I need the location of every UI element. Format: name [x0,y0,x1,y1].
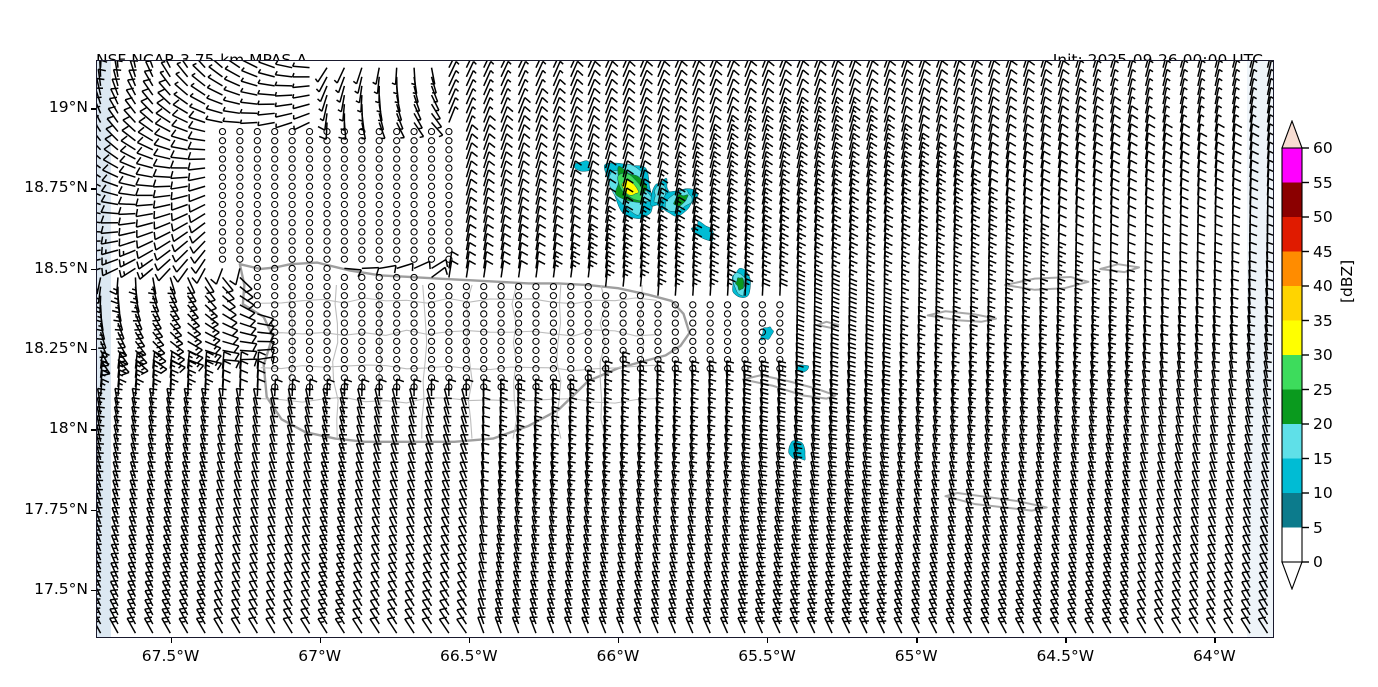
barb-full [249,608,257,609]
barb-full [550,516,558,517]
barb-full [863,452,871,453]
barb-full [232,599,239,600]
wind-barb [318,617,327,633]
municipal-line [261,397,657,403]
wind-barb [370,617,379,633]
barb-full [723,498,731,499]
barb-full [967,462,975,463]
barb-full [864,466,872,467]
barb-full [985,443,993,444]
barb-full [1189,599,1196,600]
wind-barb [162,617,170,633]
barb-half [147,621,151,622]
wind-barb [912,617,920,633]
wind-barb [439,617,448,633]
barb-full [1002,453,1010,454]
barb-full [533,498,541,499]
barb-full [671,498,679,499]
wind-barb [283,617,292,633]
barb-full [497,525,505,526]
barb-full [388,581,396,582]
barb-full [405,590,412,591]
wind-barb-field [97,61,1273,633]
barb-full [742,475,750,476]
barb-full [654,480,661,481]
barb-full [829,484,837,485]
barb-full [654,507,662,508]
barb-full [776,502,784,503]
barb-full [777,457,785,458]
barb-full [388,572,396,573]
barb-full [318,599,325,600]
barb-full [742,511,750,512]
barb-full [672,471,680,472]
barb-full [284,599,291,600]
barb-full [984,453,992,454]
figure-root: NSF NCAR 3.75-km MPAS-A Reflectivity at … [0,0,1378,687]
barb-full [514,553,522,554]
barb-full [618,535,626,536]
wind-barb [1206,617,1215,633]
barb-full [423,572,430,573]
barb-full [637,498,645,499]
wind-barb [301,617,310,633]
barb-full [1224,590,1232,591]
barb-full [532,535,540,536]
barb-full [846,443,854,444]
barb-full [636,526,644,527]
wind-barb [669,617,677,633]
barb-full [828,471,836,472]
barb-full [671,517,679,518]
barb-full [602,489,610,490]
barb-full [301,590,308,591]
barb-full [759,511,767,512]
barb-full [810,480,818,481]
barb-full [688,517,696,518]
barb-full [949,471,957,472]
barb-full [932,471,940,472]
barb-full [829,493,837,494]
barb-full [863,493,871,494]
barb-full [706,489,714,490]
wind-barb [405,617,414,633]
wind-barb [1085,617,1093,633]
barb-full [776,480,784,481]
barb-full [793,480,801,481]
wind-barb [981,617,989,633]
barb-full [481,498,489,499]
barb-full [689,462,697,463]
barb-full [370,599,377,600]
barb-full [1172,608,1179,609]
barb-full [706,480,714,481]
barb-full [301,599,308,600]
barb-full [1102,617,1109,618]
barb-full [532,516,540,517]
barb-half [112,621,116,622]
barb-full [1224,608,1231,609]
wind-barb [1172,617,1181,633]
barb-full [301,608,308,609]
barb-full [881,475,889,476]
barb-half [321,594,325,595]
barb-full [777,466,785,467]
barb-half [1122,594,1126,595]
barb-full [283,608,290,609]
barb-full [148,444,156,445]
barb-full [776,462,784,463]
barb-full [620,471,628,472]
wind-barb [634,617,642,633]
barb-full [794,484,802,485]
barb-full [353,581,360,582]
barb-full [1189,608,1196,609]
barb-full [601,526,609,527]
barb-full [863,443,870,444]
barb-full [812,447,819,448]
barb-half [1018,612,1022,613]
barb-half [1087,603,1091,604]
barb-full [498,507,506,508]
barb-full [497,544,505,545]
barb-full [845,480,853,481]
barb-full [915,480,923,481]
barb-full [846,462,854,463]
barb-full [1019,453,1027,454]
barb-full [742,466,750,467]
barb-full [179,617,187,618]
barb-half [338,585,342,586]
barb-full [811,452,819,453]
barb-half [1087,612,1091,613]
barb-full [881,466,889,467]
barb-full [406,572,414,573]
barb-half [1104,621,1108,622]
barb-full [458,572,465,573]
barb-full [515,516,523,517]
barb-full [759,462,767,463]
wind-barb [179,617,187,633]
barb-full [898,462,906,463]
barb-full [602,507,610,508]
municipal-line [261,365,657,371]
barb-half [320,612,324,613]
barb-full [811,471,819,472]
barb-full [619,516,627,517]
barb-full [214,617,221,618]
barb-half [1105,603,1109,604]
barb-full [846,452,854,453]
barb-full [1207,608,1214,609]
barb-full [742,462,750,463]
barb-full [440,581,447,582]
wind-barb [457,617,467,633]
barb-full [811,493,819,494]
barb-full [532,525,540,526]
barb-half [164,603,168,604]
map-plot-area [96,60,1274,638]
barb-full [1155,608,1163,609]
barb-full [584,535,592,536]
barb-full [636,507,644,508]
barb-full [793,471,801,472]
barb-full [829,457,837,458]
barb-full [776,452,784,453]
barb-full [775,498,783,499]
barb-half [164,621,168,622]
barb-full [620,480,628,481]
barb-full [114,443,122,444]
barb-full [707,471,715,472]
barb-full [864,457,872,458]
barb-full [880,453,888,454]
barb-full [672,489,680,490]
barb-half [321,585,325,586]
barb-full [828,452,836,453]
barb-full [742,502,750,503]
barb-full [864,447,872,448]
barb-full [480,507,488,508]
barb-full [707,462,715,463]
barb-full [654,516,662,517]
wind-barb [1137,617,1146,633]
barb-full [566,535,574,536]
barb-full [811,462,819,463]
barb-full [758,480,766,481]
barb-half [164,612,168,613]
barb-full [706,517,714,518]
barb-full [145,617,152,618]
barb-full [759,471,767,472]
barb-full [336,599,343,600]
barb-full [619,526,627,527]
barb-full [515,498,522,499]
barb-full [602,498,610,499]
barb-full [162,617,169,618]
barb-full [880,462,888,463]
barb-half [199,594,203,595]
wind-barb [387,617,396,633]
barb-half [1070,612,1074,613]
barb-full [759,493,767,494]
barb-half [1104,612,1108,613]
wind-barb [1189,617,1198,633]
barb-full [214,608,221,609]
barb-full [950,443,958,444]
barb-full [1172,599,1180,600]
barb-full [689,489,697,490]
barb-full [619,498,627,499]
barb-full [897,480,905,481]
wind-barb [894,617,902,633]
barb-full [689,480,697,481]
wind-barb [1016,617,1024,633]
barb-full [689,471,697,472]
barb-full [881,443,889,444]
barb-full [846,493,854,494]
barb-full [584,507,592,508]
barb-full [371,581,378,582]
wind-barb [1224,617,1233,633]
barb-half [97,612,99,613]
barb-full [567,526,575,527]
barb-full [777,493,785,494]
barb-full [810,498,818,499]
barb-full [532,544,540,545]
municipal-line [261,330,657,336]
barb-full [480,516,488,517]
barb-full [847,466,855,467]
barb-full [881,484,889,485]
barb-full [636,535,644,536]
barb-full [654,498,662,499]
barb-full [811,484,819,485]
barb-full [742,484,750,485]
barb-full [794,462,801,463]
barb-full [479,553,487,554]
barb-half [181,621,185,622]
barb-full [532,507,540,508]
barb-full [1137,608,1144,609]
barb-full [405,581,413,582]
wind-barb [651,617,659,633]
barb-full [131,443,139,444]
barb-full [810,489,818,490]
barb-half [321,603,325,604]
wind-barb [1154,617,1163,633]
barb-half [1122,612,1126,613]
barb-full [777,484,785,485]
barb-full [794,475,802,476]
municipal-line [556,285,561,439]
barb-full [480,544,488,545]
wind-barb [127,617,135,633]
barb-full [550,489,558,490]
barb-full [864,475,872,476]
barb-full [113,453,121,454]
barb-full [862,480,870,481]
barb-full [760,466,768,467]
barb-full [371,590,378,591]
barb-full [441,562,448,563]
barb-full [1206,617,1213,618]
barb-full [480,525,488,526]
barb-full [637,489,645,490]
barb-full [249,599,257,600]
barb-half [1070,621,1074,622]
barb-full [1207,599,1214,600]
barb-half [320,622,324,623]
barb-half [147,612,151,613]
barb-full [760,475,768,476]
barb-full [654,489,662,490]
barb-full [846,475,854,476]
barb-half [1087,621,1091,622]
barb-half [1018,621,1022,622]
barb-full [795,466,803,467]
barb-full [812,466,819,467]
barb-full [584,526,592,527]
barb-full [741,507,749,508]
barb-half [199,612,203,613]
barb-full [932,462,940,463]
barb-full [915,462,923,463]
barb-half [112,612,116,613]
barb-full [724,489,732,490]
wind-barb [964,617,972,633]
barb-full [266,599,274,600]
barb-half [182,603,186,604]
barb-full [897,471,905,472]
vieques-coastline [743,375,835,398]
barb-full [284,590,291,591]
municipal-line [422,285,427,439]
wind-barb [617,617,625,633]
barb-full [127,617,135,618]
barb-full [515,507,522,508]
barb-full [776,489,784,490]
wind-barb [1120,617,1128,633]
barb-full [655,471,662,472]
barb-full [933,443,941,444]
wind-barb [1102,617,1110,633]
wind-barb [946,617,954,633]
barb-full [498,516,506,517]
barb-full [514,535,522,536]
barb-full [881,457,889,458]
barb-full [480,535,488,536]
municipal-line [261,298,657,304]
barb-full [549,525,557,526]
barb-full [550,507,558,508]
wind-barb [422,617,431,633]
barb-full [549,535,557,536]
wind-barb [998,617,1006,633]
barb-full [319,581,327,582]
barb-full [880,471,888,472]
wind-barb [231,617,240,633]
barb-full [793,489,801,490]
barb-full [967,443,975,444]
barb-half [338,603,342,604]
wind-barb [214,617,223,633]
barb-full [689,498,697,499]
wind-barb [929,617,937,633]
barb-full [847,447,854,448]
barb-half [182,594,186,595]
barb-full [932,453,940,454]
barb-full [1154,617,1162,618]
barb-full [567,507,575,508]
barb-full [1224,599,1232,600]
barb-full [336,590,344,591]
barb-full [97,443,104,444]
barb-full [724,462,731,463]
barb-full [688,507,696,508]
wind-barb [145,617,153,633]
barb-full [1002,462,1010,463]
barb-full [846,484,854,485]
barb-full [515,525,523,526]
barb-full [741,489,749,490]
barb-full [567,516,575,517]
wind-barb [1068,617,1076,633]
barb-full [619,507,627,508]
barb-full [706,498,714,499]
barb-full [266,608,273,609]
barb-full [567,498,575,499]
